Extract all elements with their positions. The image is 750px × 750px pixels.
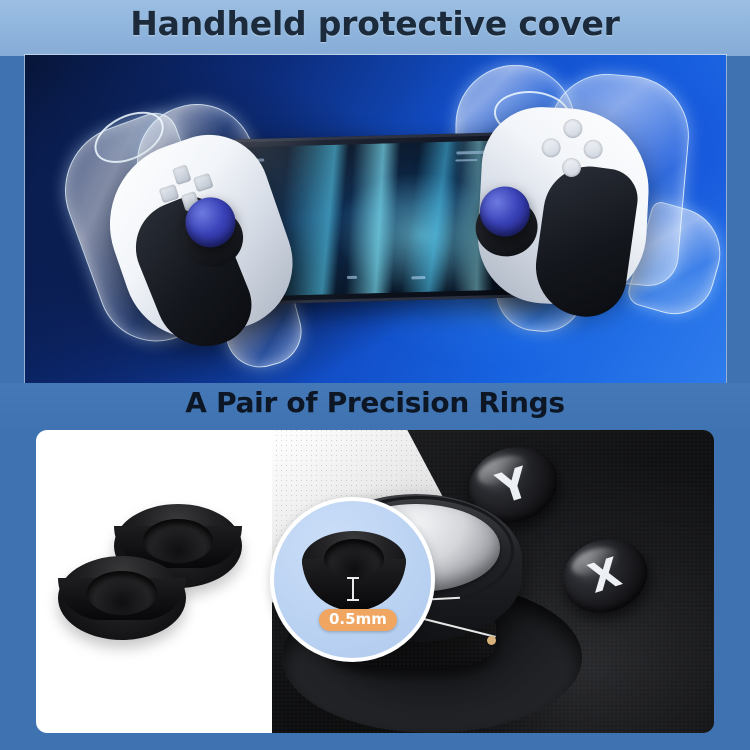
- square-button-icon: [561, 158, 581, 178]
- triangle-button-icon: [563, 119, 583, 139]
- ring-hole: [87, 571, 157, 615]
- callout-anchor-dot: [487, 636, 496, 645]
- magnifier-callout: 0.5mm: [270, 497, 435, 662]
- thickness-badge: 0.5mm: [319, 609, 397, 631]
- face-button-cluster: [540, 118, 604, 178]
- dpad-right-icon: [192, 173, 213, 193]
- ring-hole: [143, 519, 213, 563]
- product-infographic-page: Handheld protective cover: [0, 0, 750, 750]
- circle-button-icon: [583, 139, 603, 159]
- hero-image: [25, 55, 726, 383]
- precision-rings-pair: [58, 498, 248, 648]
- precision-ring: [58, 556, 186, 640]
- cross-button-icon: [541, 138, 561, 158]
- thickness-measure-icon: [352, 577, 354, 601]
- dpad-up-icon: [172, 164, 192, 185]
- ring-hole: [324, 539, 384, 579]
- page-title: Handheld protective cover: [0, 4, 750, 43]
- section-subtitle: A Pair of Precision Rings: [0, 386, 750, 419]
